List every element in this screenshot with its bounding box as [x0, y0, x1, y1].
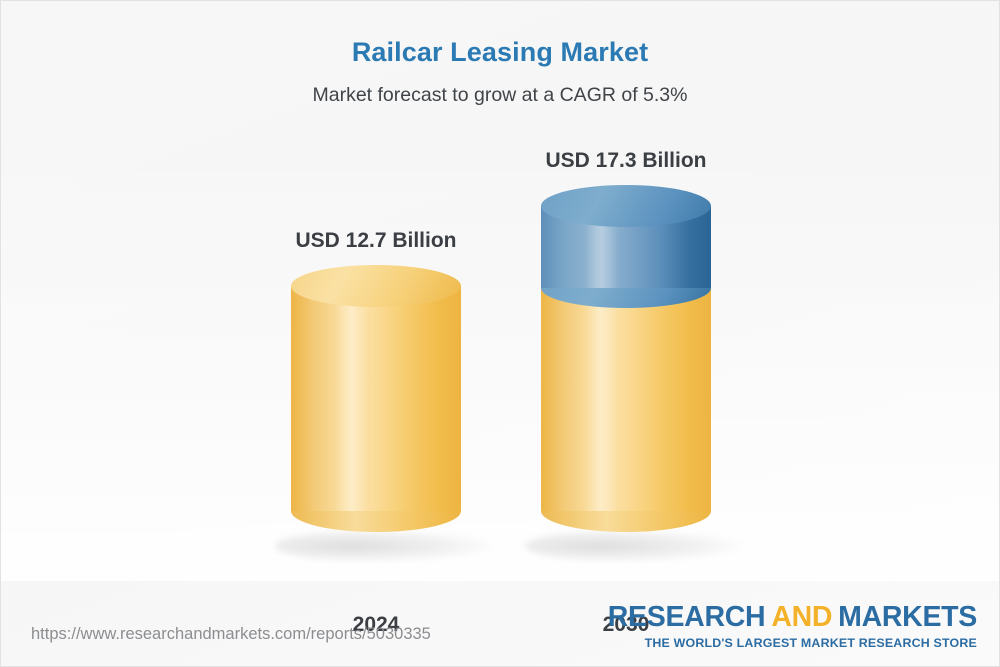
- bar-value-label-2024: USD 12.7 Billion: [261, 229, 491, 253]
- bar-segment-growth-2030: [541, 206, 711, 288]
- bar-shadow-2030: [525, 529, 745, 563]
- bar-segment-base-2024: [291, 286, 461, 511]
- page-title: Railcar Leasing Market: [1, 37, 999, 68]
- bar-group-2024: USD 12.7 Billion 2024: [261, 141, 491, 581]
- chart-subtitle: Market forecast to grow at a CAGR of 5.3…: [1, 84, 999, 107]
- bar-group-2030: USD 17.3 Billion 2030: [511, 141, 741, 581]
- research-and-markets-logo[interactable]: RESEARCHANDMARKETS THE WORLD'S LARGEST M…: [608, 603, 977, 651]
- logo-word-markets: MARKETS: [838, 601, 977, 633]
- logo-word-research: RESEARCH: [608, 601, 766, 633]
- chart-card: Railcar Leasing Market Market forecast t…: [0, 0, 1000, 667]
- chart-header: Railcar Leasing Market Market forecast t…: [1, 1, 999, 107]
- logo-word-and: AND: [771, 601, 832, 633]
- cylinder-body-base-2030: [541, 286, 711, 511]
- cylinder-top-cap-2030: [541, 185, 711, 227]
- chart-footer: https://www.researchandmarkets.com/repor…: [1, 579, 999, 666]
- logo-tagline: THE WORLD'S LARGEST MARKET RESEARCH STOR…: [608, 636, 977, 650]
- cylinder-2024[interactable]: [291, 286, 461, 511]
- cylinder-body-2024: [291, 286, 461, 511]
- cylinder-2030[interactable]: [541, 206, 711, 511]
- bar-shadow-2024: [275, 529, 495, 563]
- bar-value-label-2030: USD 17.3 Billion: [511, 149, 741, 173]
- bar-segment-base-2030: [541, 286, 711, 511]
- cylinder-top-cap-2024: [291, 265, 461, 307]
- logo-wordmark: RESEARCHANDMARKETS: [608, 603, 977, 632]
- source-url-link[interactable]: https://www.researchandmarkets.com/repor…: [31, 625, 431, 644]
- plot-area: USD 12.7 Billion 2024 USD 17.3 Billion: [1, 141, 1000, 581]
